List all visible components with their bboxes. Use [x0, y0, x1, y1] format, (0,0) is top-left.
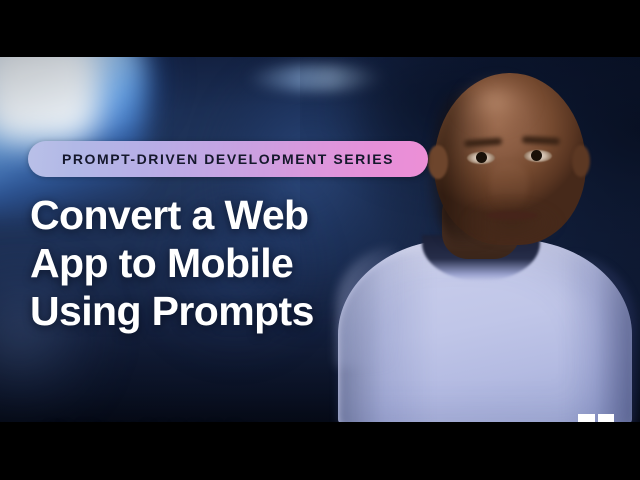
video-thumbnail: PROMPT-DRIVEN DEVELOPMENT SERIES Convert… — [0, 0, 640, 480]
presenter-mouth — [486, 211, 538, 220]
page-title-line-1: Convert a Web — [30, 191, 390, 239]
presenter-ear-right — [572, 145, 590, 177]
video-frame: PROMPT-DRIVEN DEVELOPMENT SERIES Convert… — [0, 57, 640, 422]
presenter-shirt-shadow-right — [562, 253, 636, 422]
microsoft-logo-square-top-right — [598, 414, 615, 422]
presenter-head-highlight — [458, 79, 540, 137]
presenter-ear-left — [428, 145, 448, 179]
page-title-line-2: App to Mobile — [30, 239, 390, 287]
microsoft-logo-square-top-left — [578, 414, 595, 422]
page-title-line-3: Using Prompts — [30, 287, 390, 335]
letterbox-bottom — [0, 422, 640, 480]
page-title: Convert a Web App to Mobile Using Prompt… — [30, 191, 390, 335]
presenter-pupil-right — [531, 150, 542, 161]
series-badge-label: PROMPT-DRIVEN DEVELOPMENT SERIES — [62, 152, 394, 166]
microsoft-logo — [578, 414, 614, 422]
presenter-pupil-left — [476, 152, 487, 163]
series-badge: PROMPT-DRIVEN DEVELOPMENT SERIES — [28, 141, 428, 177]
presenter-chin-shadow — [462, 201, 562, 245]
letterbox-top — [0, 0, 640, 57]
